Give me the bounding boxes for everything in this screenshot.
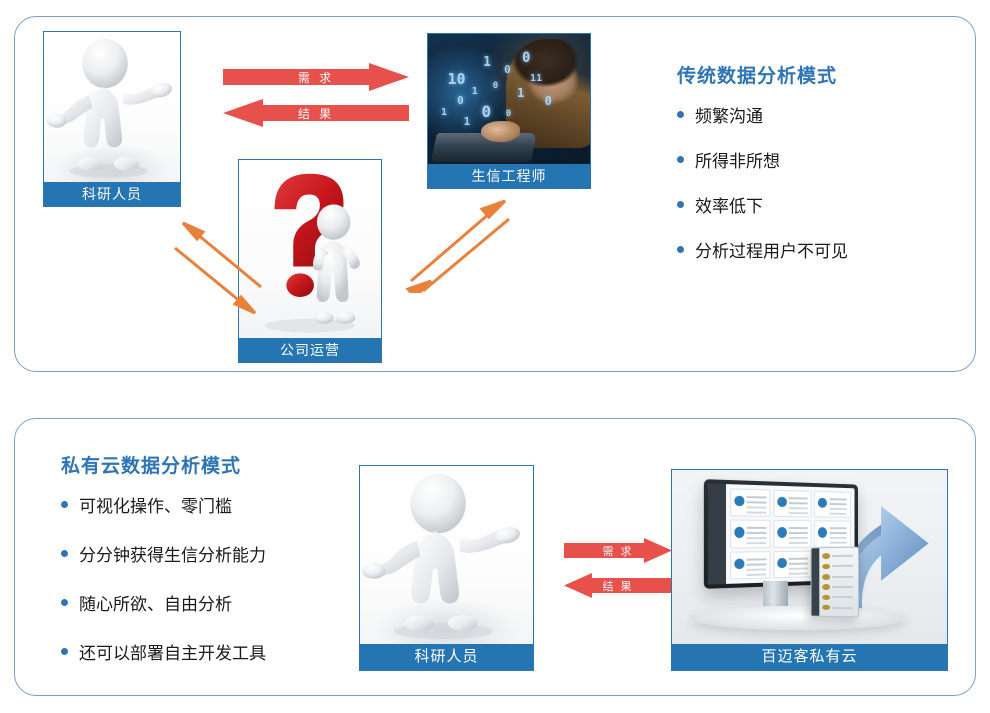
traditional-mode-panel: 科研人员 <box>14 16 976 372</box>
link-arrow-researcher-operations <box>167 203 277 323</box>
cloud-bullet-list: 可视化操作、零门槛 分分钟获得生信分析能力 随心所欲、自由分析 还可以部署自主开… <box>61 492 266 664</box>
bullet-text: 频繁沟通 <box>695 102 763 127</box>
result-arrow-label: 结 果 <box>298 105 334 122</box>
dashboard-tile <box>730 520 771 548</box>
bullet-text: 所得非所想 <box>695 147 780 172</box>
card-label-engineer: 生信工程师 <box>428 164 590 188</box>
card-label-private-cloud: 百迈客私有云 <box>672 644 947 670</box>
tablet-list-item <box>821 594 855 600</box>
tablet-list-item <box>821 553 855 559</box>
list-item: 频繁沟通 <box>677 102 848 127</box>
card-label-operations: 公司运营 <box>239 338 381 362</box>
list-item: 还可以部署自主开发工具 <box>61 639 266 664</box>
dashboard-tile <box>730 489 771 518</box>
list-item: 分析过程用户不可见 <box>677 237 848 262</box>
private-cloud-mode-panel: 私有云数据分析模式 可视化操作、零门槛 分分钟获得生信分析能力 随心所欲、自由分… <box>14 418 976 696</box>
dashboard-tile <box>773 551 811 579</box>
list-item: 随心所欲、自由分析 <box>61 590 266 615</box>
cloud-text-block: 私有云数据分析模式 可视化操作、零门槛 分分钟获得生信分析能力 随心所欲、自由分… <box>61 451 266 688</box>
list-item: 效率低下 <box>677 192 848 217</box>
demand-arrow-label: 需 求 <box>298 69 334 86</box>
bullet-text: 随心所欲、自由分析 <box>79 590 232 615</box>
traditional-bullet-list: 频繁沟通 所得非所想 效率低下 分析过程用户不可见 <box>677 102 848 262</box>
bullet-dot-icon <box>61 648 68 655</box>
bullet-dot-icon <box>677 201 684 208</box>
bullet-dot-icon <box>61 550 68 557</box>
traditional-text-block: 传统数据分析模式 频繁沟通 所得非所想 效率低下 分析过程用户不可见 <box>677 61 848 282</box>
card-label-researcher: 科研人员 <box>360 644 533 670</box>
dashboard-tile <box>773 490 811 518</box>
monitor-stand <box>763 581 788 605</box>
dashboard-tile <box>814 521 850 548</box>
dashboard-tile <box>773 521 811 549</box>
card-engineer[interactable]: 1 10 0 0 1 0 1 0 0 11 0 1 0 1 生信工程师 <box>427 33 591 189</box>
researcher-illustration <box>44 32 180 182</box>
card-researcher-traditional[interactable]: 科研人员 <box>43 31 181 207</box>
typing-hand <box>481 121 520 142</box>
double-diagonal-arrow-icon <box>393 193 523 293</box>
card-researcher-cloud[interactable]: 科研人员 <box>359 465 534 671</box>
app-sidebar <box>708 484 726 585</box>
list-item: 分分钟获得生信分析能力 <box>61 541 266 566</box>
bullet-text: 还可以部署自主开发工具 <box>79 639 266 664</box>
bullet-text: 可视化操作、零门槛 <box>79 492 232 517</box>
result-arrow-label: 结 果 <box>602 578 633 594</box>
cloud-product-scene <box>672 470 947 644</box>
tablet-list-item <box>821 573 855 579</box>
card-label-researcher: 科研人员 <box>44 182 180 206</box>
bullet-dot-icon <box>677 111 684 118</box>
researcher-illustration <box>360 466 533 644</box>
demand-arrow-label: 需 求 <box>602 543 633 559</box>
white-3d-person-icon <box>360 466 533 644</box>
bullet-text: 分析过程用户不可见 <box>695 237 848 262</box>
bullet-text: 分分钟获得生信分析能力 <box>79 541 266 566</box>
monitor-base <box>691 606 906 630</box>
engineer-photo-scene: 1 10 0 0 1 0 1 0 0 11 0 1 0 1 <box>428 34 590 164</box>
tablet-device <box>810 546 858 617</box>
tablet-list-item <box>821 563 855 569</box>
result-arrow-cloud: 结 果 <box>564 573 672 598</box>
tablet-list-item <box>821 604 855 610</box>
demand-arrow-traditional: 需 求 <box>223 63 409 91</box>
cloud-title: 私有云数据分析模式 <box>61 451 266 478</box>
card-private-cloud[interactable]: 百迈客私有云 <box>671 469 948 671</box>
bullet-dot-icon <box>61 599 68 606</box>
link-arrow-operations-engineer <box>393 193 523 293</box>
bullet-text: 效率低下 <box>695 192 763 217</box>
result-arrow-traditional: 结 果 <box>223 99 409 127</box>
list-item: 所得非所想 <box>677 147 848 172</box>
tablet-list-item <box>821 584 855 590</box>
dashboard-tile <box>730 551 771 580</box>
bullet-dot-icon <box>61 501 68 508</box>
double-diagonal-arrow-icon <box>167 203 277 323</box>
demand-arrow-cloud: 需 求 <box>564 538 672 563</box>
private-cloud-photo <box>672 470 947 644</box>
engineer-photo: 1 10 0 0 1 0 1 0 0 11 0 1 0 1 <box>428 34 590 164</box>
dashboard-tile <box>814 491 850 518</box>
traditional-title: 传统数据分析模式 <box>677 61 848 88</box>
bullet-dot-icon <box>677 246 684 253</box>
slide-canvas: 科研人员 <box>0 0 990 713</box>
white-3d-person-icon <box>44 32 180 182</box>
tablet-list <box>819 547 857 616</box>
tablet-sidebar <box>811 548 819 615</box>
list-item: 可视化操作、零门槛 <box>61 492 266 517</box>
bullet-dot-icon <box>677 156 684 163</box>
